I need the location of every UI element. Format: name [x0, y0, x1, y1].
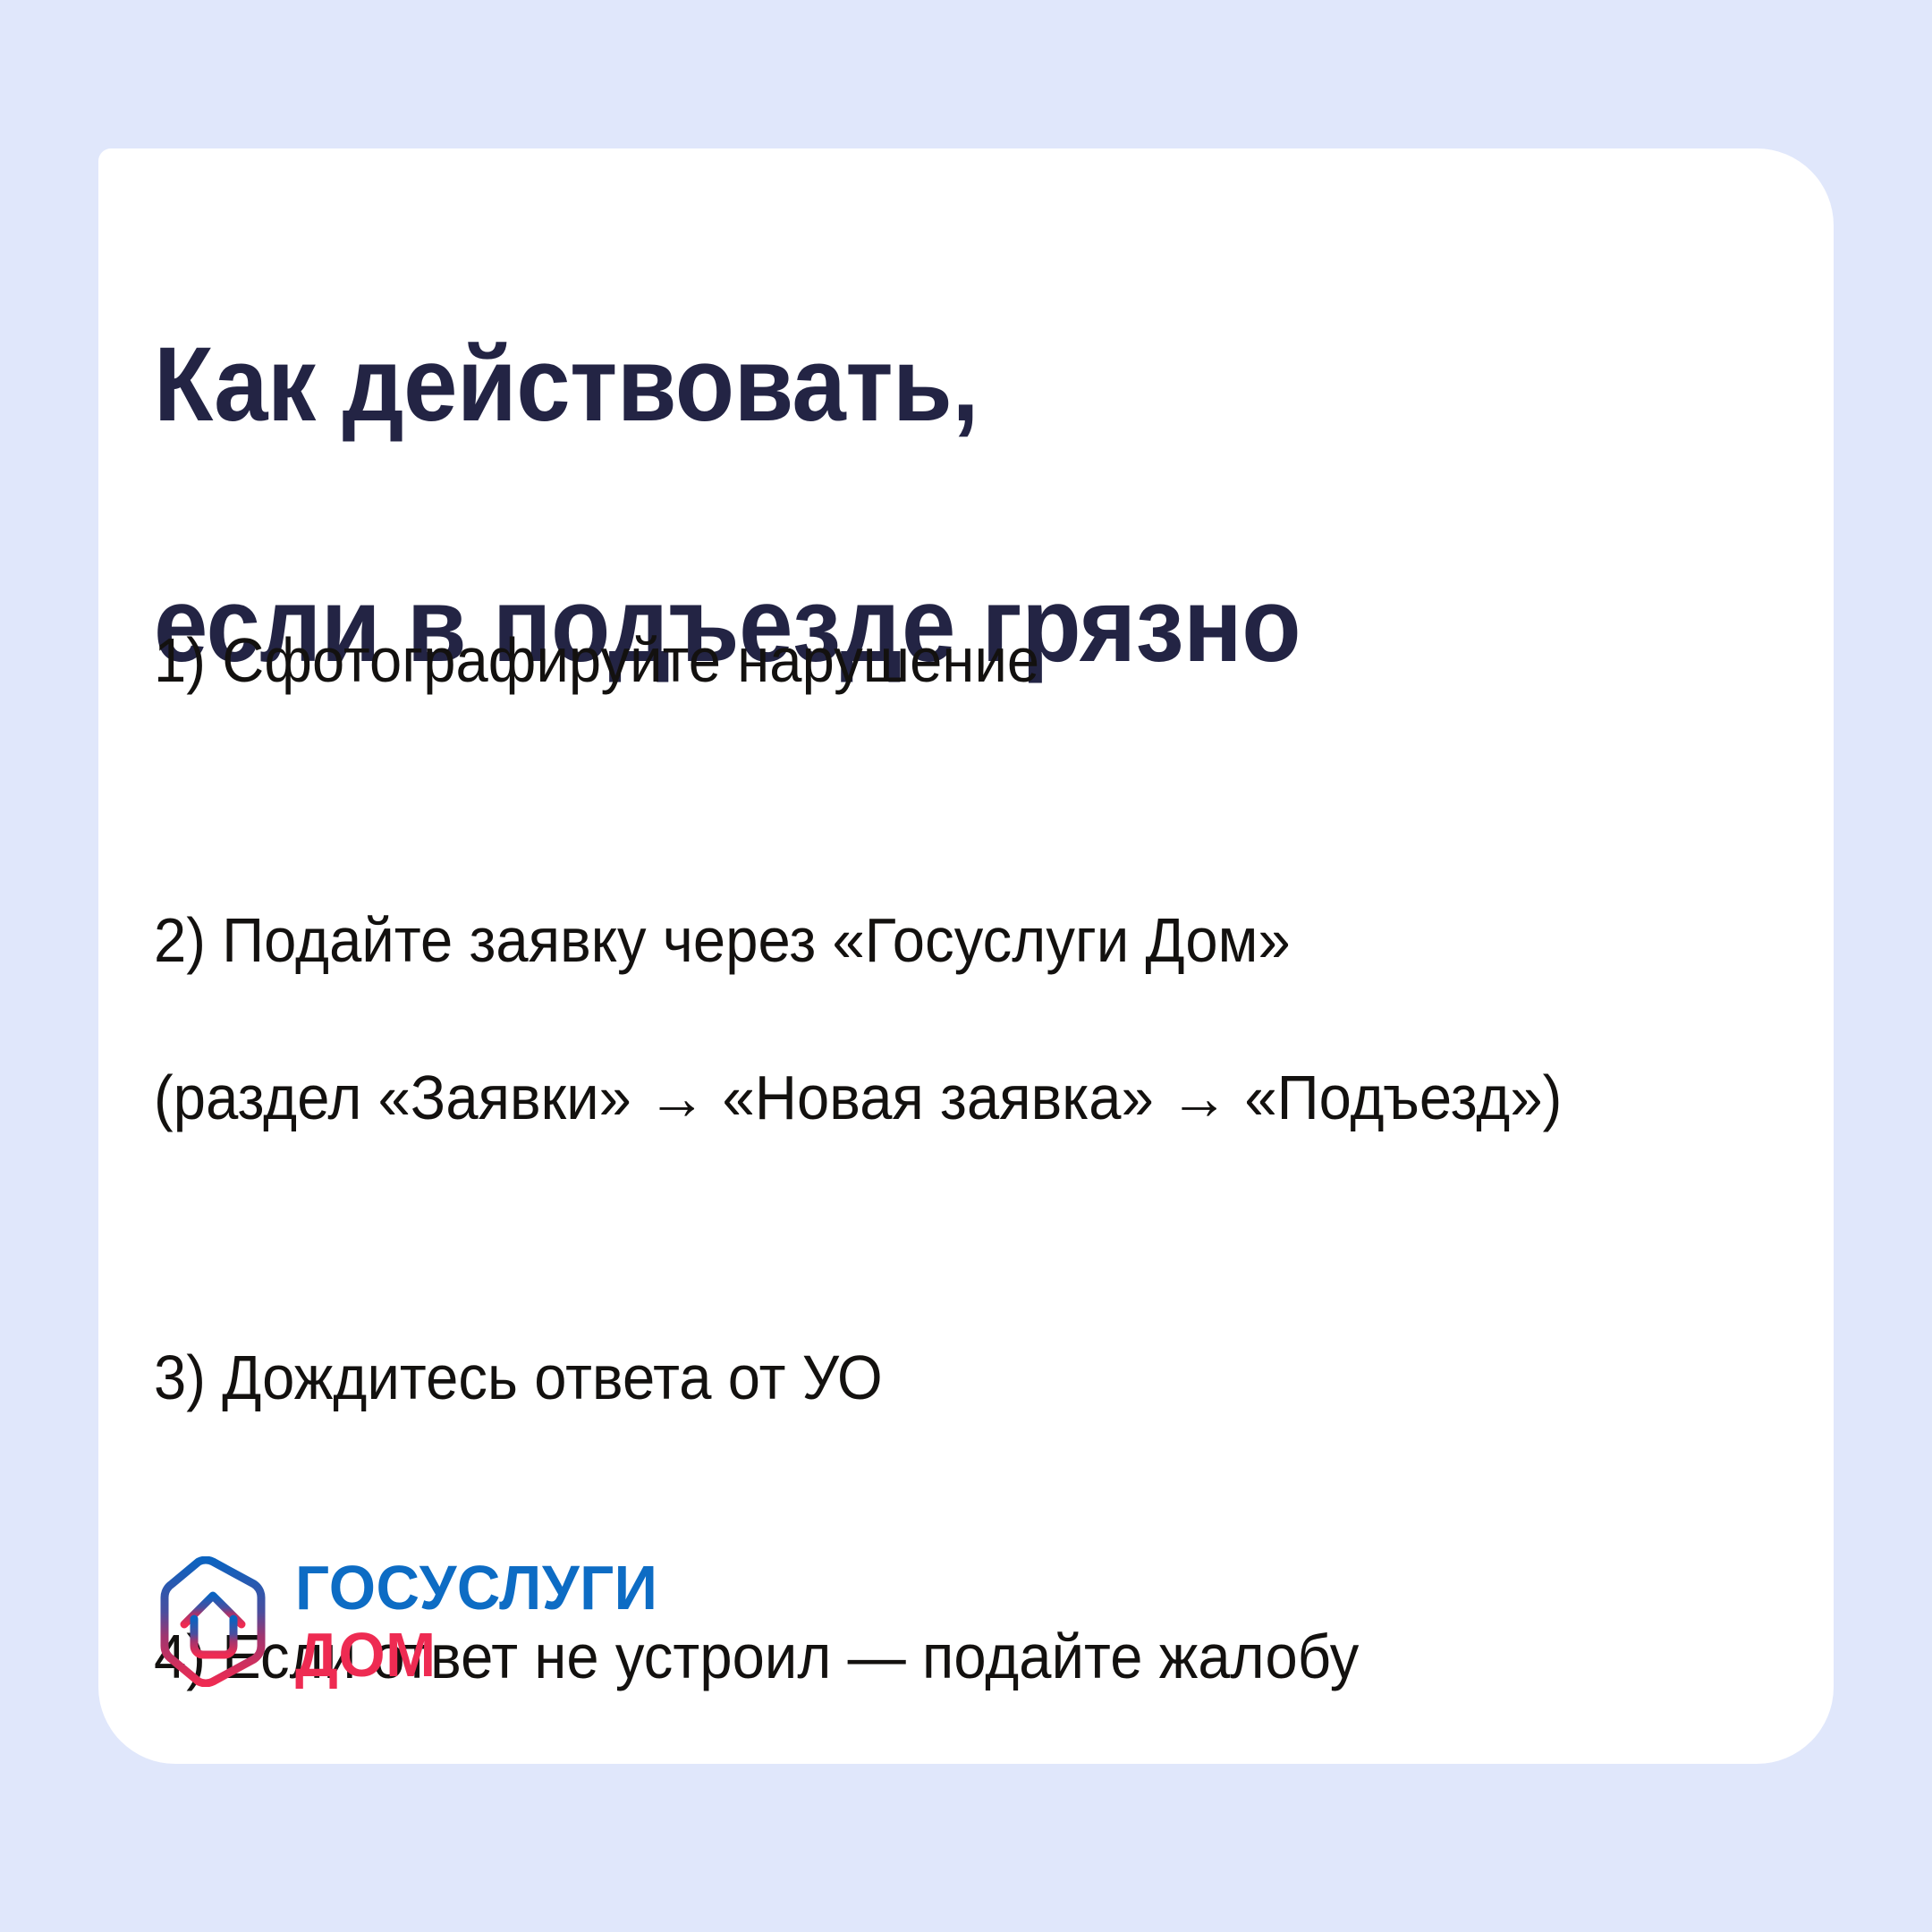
- gosuslugi-dom-logo: ГОСУСЛУГИ ДОМ: [154, 1556, 673, 1687]
- step-2-line-2: (раздел «Заявки» → «Новая заявка» → «Под…: [154, 1058, 1676, 1137]
- step-1-line-1: 1) Сфотографируйте нарушение: [154, 621, 1676, 699]
- step-item-1: 1) Сфотографируйте нарушение: [154, 542, 1676, 779]
- gosuslugi-dom-house-hexagon-icon: [154, 1556, 272, 1687]
- step-2-line-1: 2) Подайте заявку через «Госуслуги Дом»: [154, 901, 1676, 979]
- step-3-line-1: 3) Дождитесь ответа от УО: [154, 1338, 1676, 1417]
- logo-wordmark: ГОСУСЛУГИ ДОМ: [295, 1557, 673, 1685]
- info-card: Как действовать, если в подъезде грязно …: [98, 148, 1834, 1764]
- page-title-line-1: Как действовать,: [154, 325, 1553, 445]
- logo-word-gosuslugi: ГОСУСЛУГИ: [295, 1557, 657, 1619]
- step-item-3: 3) Дождитесь ответа от УО: [154, 1259, 1676, 1496]
- step-item-2: 2) Подайте заявку через «Госуслуги Дом» …: [154, 822, 1676, 1216]
- logo-word-dom: ДОМ: [295, 1624, 657, 1686]
